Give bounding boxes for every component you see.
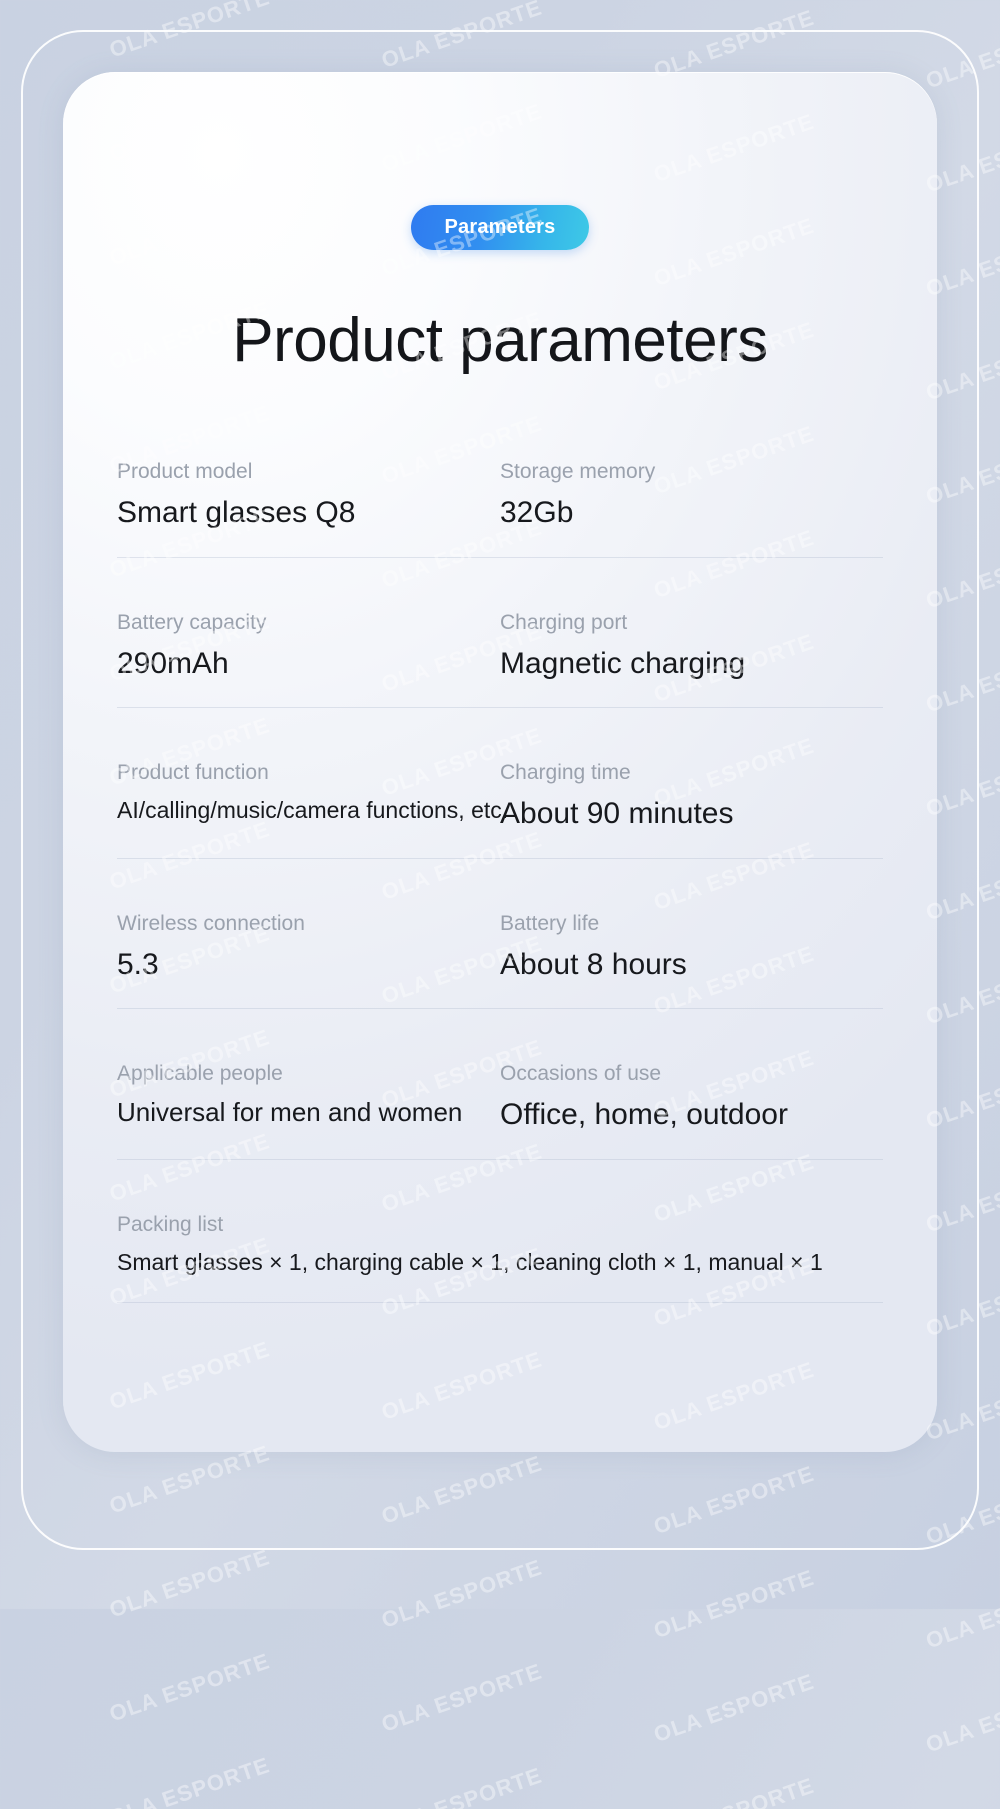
param-label: Occasions of use: [500, 1062, 875, 1085]
watermark-text: OLA ESPORTE: [378, 1763, 545, 1809]
table-row: Applicable people Universal for men and …: [117, 1062, 883, 1160]
watermark-text: OLA ESPORTE: [0, 1326, 1, 1405]
param-label: Wireless connection: [117, 912, 492, 935]
watermark-text: OLA ESPORTE: [0, 182, 1, 261]
watermark-text: OLA ESPORTE: [923, 1783, 1000, 1809]
param-cell-product-function: Product function AI/calling/music/camera…: [117, 761, 500, 832]
watermark-text: OLA ESPORTE: [106, 1752, 273, 1809]
watermark-text: OLA ESPORTE: [378, 1659, 545, 1738]
watermark-text: OLA ESPORTE: [923, 1471, 1000, 1550]
param-value: Magnetic charging: [500, 647, 875, 682]
watermark-text: OLA ESPORTE: [650, 1461, 817, 1540]
watermark-text: OLA ESPORTE: [650, 1669, 817, 1748]
watermark-text: OLA ESPORTE: [378, 1451, 545, 1530]
watermark-row: OLA ESPORTEOLA ESPORTEOLA ESPORTEOLA ESP…: [0, 1549, 1000, 1809]
watermark-text: OLA ESPORTE: [650, 1565, 817, 1644]
parameters-badge: Parameters: [411, 205, 590, 250]
watermark-text: OLA ESPORTE: [378, 1555, 545, 1634]
watermark-row: OLA ESPORTEOLA ESPORTEOLA ESPORTEOLA ESP…: [0, 0, 1000, 53]
watermark-text: OLA ESPORTE: [0, 806, 1, 885]
watermark-text: OLA ESPORTE: [106, 1648, 273, 1727]
watermark-text: OLA ESPORTE: [0, 1222, 1, 1301]
watermark-text: OLA ESPORTE: [0, 0, 1, 53]
param-label: Applicable people: [117, 1062, 492, 1085]
param-label: Storage memory: [500, 460, 875, 483]
watermark-text: OLA ESPORTE: [0, 598, 1, 677]
param-label: Packing list: [117, 1213, 875, 1236]
param-label: Product model: [117, 460, 492, 483]
param-label: Charging time: [500, 761, 875, 784]
param-value: 5.3: [117, 948, 492, 983]
param-label: Product function: [117, 761, 492, 784]
table-row: Product function AI/calling/music/camera…: [117, 761, 883, 859]
watermark-text: OLA ESPORTE: [650, 1773, 817, 1809]
watermark-text: OLA ESPORTE: [0, 286, 1, 365]
param-cell-charging-time: Charging time About 90 minutes: [500, 761, 883, 832]
param-value: 290mAh: [117, 647, 492, 682]
param-cell-charging-port: Charging port Magnetic charging: [500, 611, 883, 682]
param-value: 32Gb: [500, 496, 875, 531]
table-row: Wireless connection 5.3 Battery life Abo…: [117, 912, 883, 1010]
param-cell-battery-life: Battery life About 8 hours: [500, 912, 883, 983]
watermark-text: OLA ESPORTE: [0, 1014, 1, 1093]
param-label: Charging port: [500, 611, 875, 634]
table-row: Product model Smart glasses Q8 Storage m…: [117, 460, 883, 558]
param-value: Smart glasses Q8: [117, 496, 492, 531]
watermark-text: OLA ESPORTE: [0, 1742, 1, 1809]
param-label: Battery capacity: [117, 611, 492, 634]
param-cell-battery-capacity: Battery capacity 290mAh: [117, 611, 500, 682]
parameters-table: Product model Smart glasses Q8 Storage m…: [117, 460, 883, 1303]
param-value: About 8 hours: [500, 948, 875, 983]
param-cell-product-model: Product model Smart glasses Q8: [117, 460, 500, 531]
watermark-text: OLA ESPORTE: [0, 494, 1, 573]
watermark-text: OLA ESPORTE: [923, 1679, 1000, 1758]
watermark-row: OLA ESPORTEOLA ESPORTEOLA ESPORTEOLA ESP…: [0, 1445, 1000, 1809]
param-value: Office, home, outdoor: [500, 1098, 875, 1133]
param-value: About 90 minutes: [500, 797, 875, 832]
param-label: Battery life: [500, 912, 875, 935]
badge-container: Parameters: [117, 72, 883, 250]
watermark-text: OLA ESPORTE: [106, 0, 273, 63]
watermark-row: OLA ESPORTEOLA ESPORTEOLA ESPORTEOLA ESP…: [0, 1757, 1000, 1809]
watermark-text: OLA ESPORTE: [923, 1575, 1000, 1654]
param-cell-occasions-of-use: Occasions of use Office, home, outdoor: [500, 1062, 883, 1133]
watermark-text: OLA ESPORTE: [0, 390, 1, 469]
watermark-text: OLA ESPORTE: [0, 910, 1, 989]
param-cell-applicable-people: Applicable people Universal for men and …: [117, 1062, 500, 1133]
param-cell-storage-memory: Storage memory 32Gb: [500, 460, 883, 531]
param-value: AI/calling/music/camera functions, etc.: [117, 797, 492, 823]
watermark-text: OLA ESPORTE: [106, 1544, 273, 1623]
param-value: Universal for men and women: [117, 1098, 492, 1128]
watermark-text: OLA ESPORTE: [0, 1534, 1, 1613]
page-title: Product parameters: [117, 310, 883, 372]
watermark-text: OLA ESPORTE: [0, 78, 1, 157]
table-row: Packing list Smart glasses × 1, charging…: [117, 1213, 883, 1303]
table-row: Battery capacity 290mAh Charging port Ma…: [117, 611, 883, 709]
watermark-text: OLA ESPORTE: [0, 702, 1, 781]
param-cell-packing-list: Packing list Smart glasses × 1, charging…: [117, 1213, 883, 1276]
param-cell-wireless-connection: Wireless connection 5.3: [117, 912, 500, 983]
watermark-text: OLA ESPORTE: [0, 1638, 1, 1717]
watermark-text: OLA ESPORTE: [0, 1118, 1, 1197]
watermark-text: OLA ESPORTE: [0, 1430, 1, 1509]
watermark-text: OLA ESPORTE: [106, 1440, 273, 1519]
watermark-row: OLA ESPORTEOLA ESPORTEOLA ESPORTEOLA ESP…: [0, 1653, 1000, 1809]
param-value: Smart glasses × 1, charging cable × 1, c…: [117, 1249, 875, 1275]
product-parameters-card: Parameters Product parameters Product mo…: [63, 72, 937, 1452]
watermark-text: OLA ESPORTE: [378, 0, 545, 74]
